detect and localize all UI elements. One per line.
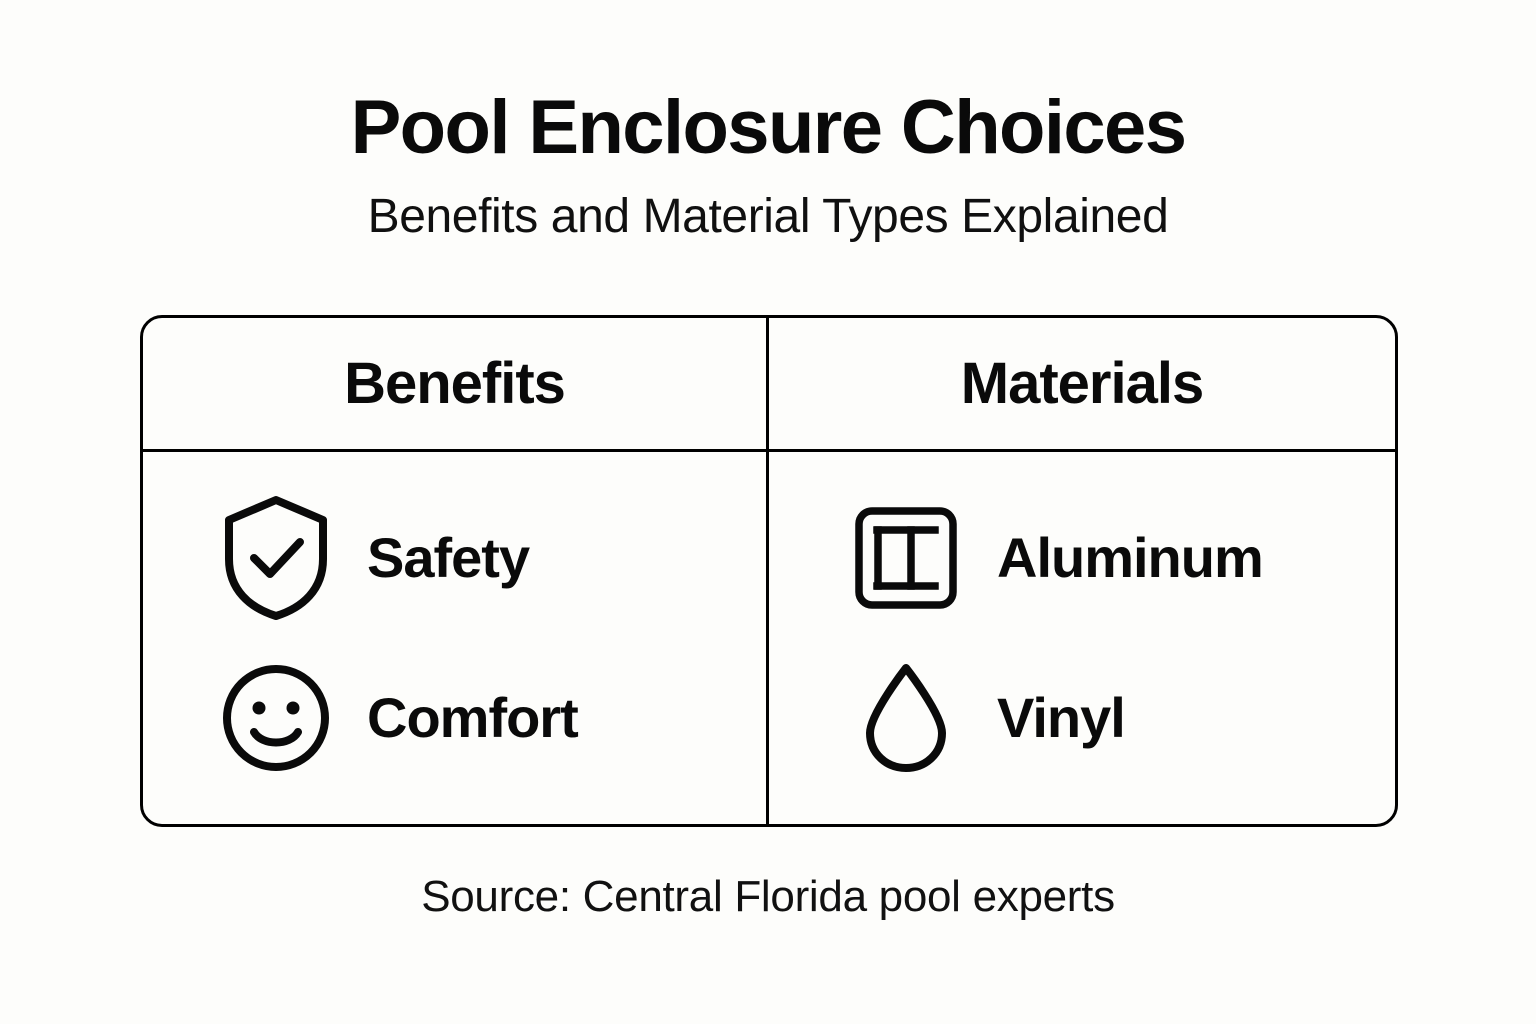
table-header-row: Benefits Materials [143, 318, 1395, 452]
list-item-label: Safety [367, 530, 529, 586]
list-item: Safety [221, 503, 766, 613]
benefits-list: Safety Comfort [143, 452, 766, 824]
column-header-label-benefits: Benefits [344, 355, 565, 413]
water-droplet-icon [851, 663, 961, 773]
smiley-face-icon [221, 663, 331, 773]
header-cell: Materials [769, 318, 1395, 449]
list-item-label: Vinyl [997, 690, 1125, 746]
header-cell: Benefits [143, 318, 766, 449]
table-body: Safety Comfort [143, 452, 1395, 824]
table-column-materials-body: Aluminum Vinyl [769, 452, 1395, 824]
header: Pool Enclosure Choices Benefits and Mate… [0, 88, 1536, 243]
list-item: Aluminum [851, 503, 1395, 613]
shield-check-icon [221, 503, 331, 613]
list-item: Vinyl [851, 663, 1395, 773]
window-frame-icon [851, 503, 961, 613]
table-column-benefits-header: Benefits [143, 318, 769, 449]
infographic-page: Pool Enclosure Choices Benefits and Mate… [0, 0, 1536, 1024]
source-caption: Source: Central Florida pool experts [0, 875, 1536, 919]
list-item-label: Comfort [367, 690, 578, 746]
page-subtitle: Benefits and Material Types Explained [0, 191, 1536, 244]
page-title: Pool Enclosure Choices [0, 88, 1536, 169]
comparison-table: Benefits Materials [140, 315, 1398, 827]
list-item: Comfort [221, 663, 766, 773]
table-column-benefits-body: Safety Comfort [143, 452, 769, 824]
table-column-materials-header: Materials [769, 318, 1395, 449]
column-header-label-materials: Materials [961, 355, 1203, 413]
materials-list: Aluminum Vinyl [769, 452, 1395, 824]
list-item-label: Aluminum [997, 530, 1263, 586]
